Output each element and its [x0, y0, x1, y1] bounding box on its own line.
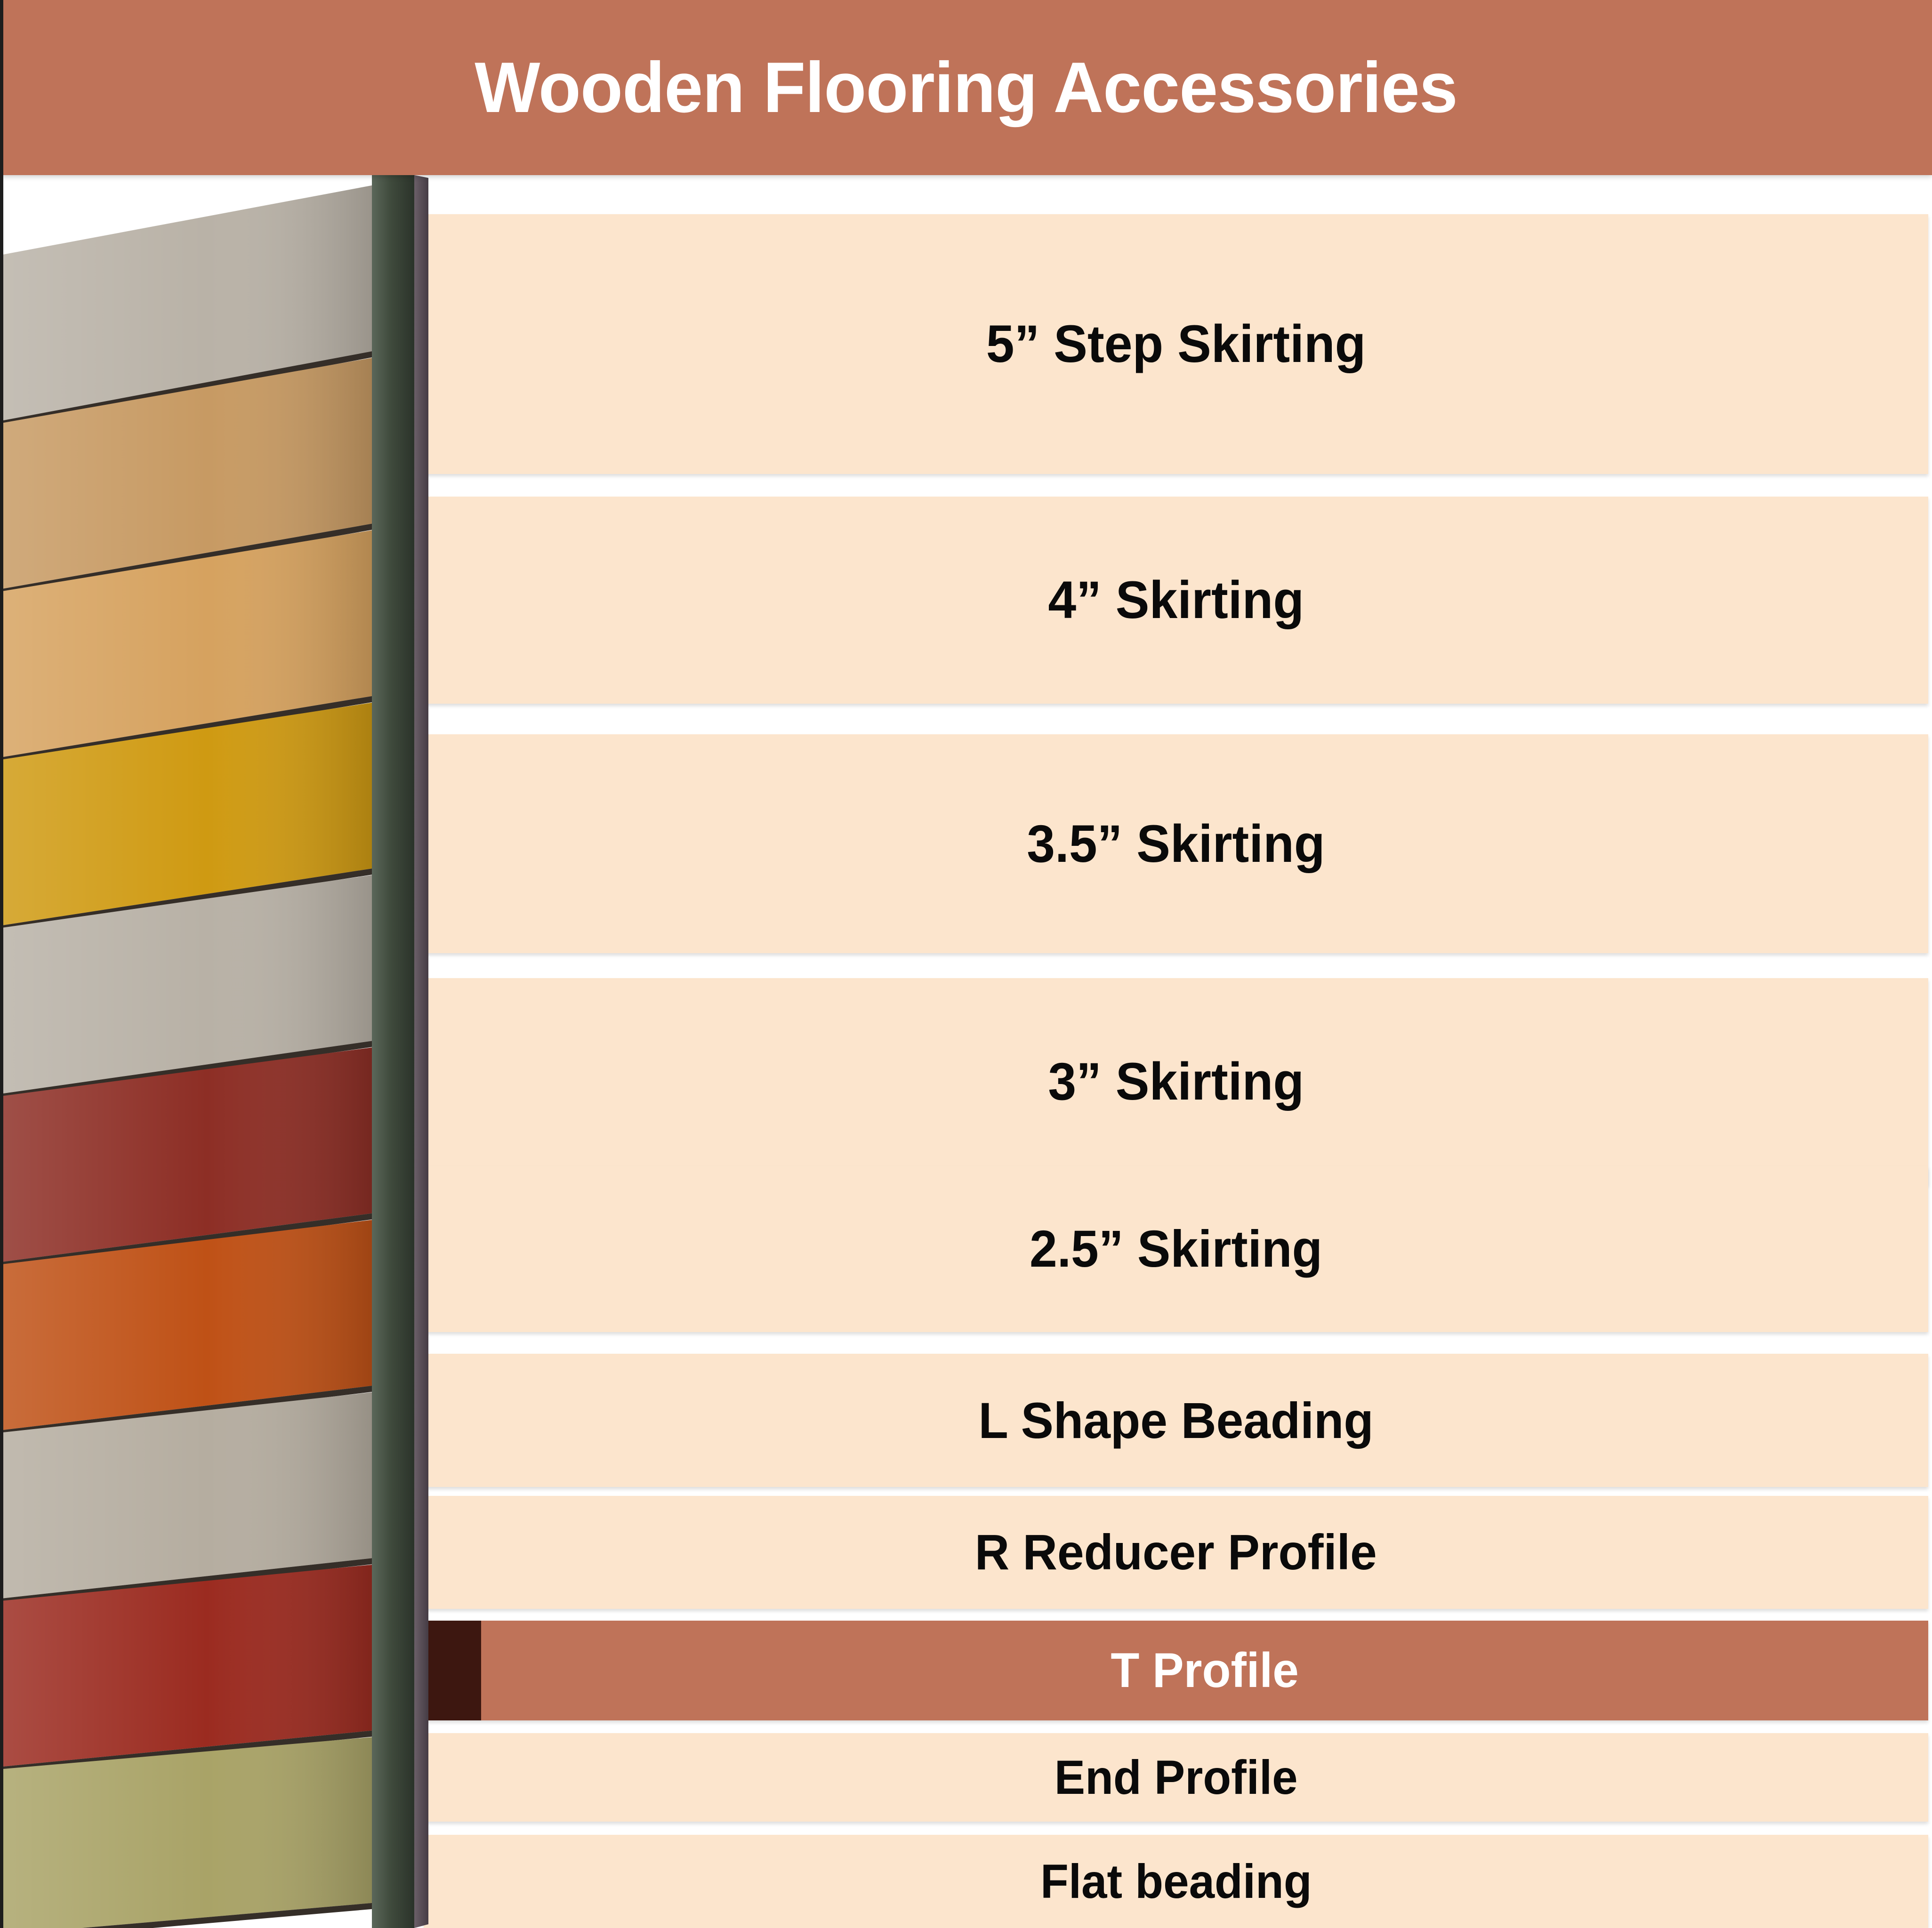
accessory-label: 3” Skirting	[1048, 1055, 1304, 1108]
accessory-row[interactable]: Flat beading	[424, 1835, 1928, 1928]
accessory-row-body: 4” Skirting	[424, 497, 1928, 704]
page-left-edge	[0, 0, 3, 1928]
header-banner: Wooden Flooring Accessories	[0, 0, 1932, 175]
accessory-label: 3.5” Skirting	[1027, 818, 1325, 870]
accessory-row-body: Flat beading	[424, 1835, 1928, 1928]
accessory-label: End Profile	[1055, 1753, 1298, 1801]
accessory-label: 4” Skirting	[1048, 574, 1304, 627]
accessory-row[interactable]: L Shape Beading	[424, 1354, 1928, 1487]
accessory-row-body: 5” Step Skirting	[424, 214, 1928, 474]
accessory-row-body: R Reducer Profile	[424, 1496, 1928, 1609]
flooring-samples-photo	[0, 175, 443, 1928]
accessory-row-body: 2.5” Skirting	[424, 1166, 1928, 1332]
accessory-row[interactable]: 3” Skirting	[424, 978, 1928, 1185]
accessory-row[interactable]: End Profile	[424, 1733, 1928, 1822]
accessory-row-body: T Profile	[481, 1621, 1928, 1720]
accessory-label: L Shape Beading	[978, 1395, 1373, 1446]
accessory-label: R Reducer Profile	[975, 1527, 1377, 1577]
accessory-row-body: End Profile	[424, 1733, 1928, 1822]
accessory-row[interactable]: 3.5” Skirting	[424, 734, 1928, 953]
accessory-row-body: 3” Skirting	[424, 978, 1928, 1185]
accessory-row[interactable]: 4” Skirting	[424, 497, 1928, 704]
accessory-row[interactable]: 2.5” Skirting	[424, 1166, 1928, 1332]
accessory-label: Flat beading	[1040, 1857, 1312, 1905]
page-title: Wooden Flooring Accessories	[475, 52, 1457, 123]
accessory-row[interactable]: R Reducer Profile	[424, 1496, 1928, 1609]
stack-side-face	[414, 175, 428, 1928]
flooring-stack-illustration	[0, 175, 443, 1928]
accessory-label: 5” Step Skirting	[986, 318, 1366, 370]
accessory-row-body: L Shape Beading	[424, 1354, 1928, 1487]
accessory-label: 2.5” Skirting	[1030, 1223, 1322, 1275]
accessory-row[interactable]: T Profile	[424, 1621, 1928, 1720]
accessory-row[interactable]: 5” Step Skirting	[424, 214, 1928, 474]
accessory-label: T Profile	[1111, 1646, 1298, 1695]
accessory-row-body: 3.5” Skirting	[424, 734, 1928, 953]
stack-right-edge	[372, 175, 414, 1928]
